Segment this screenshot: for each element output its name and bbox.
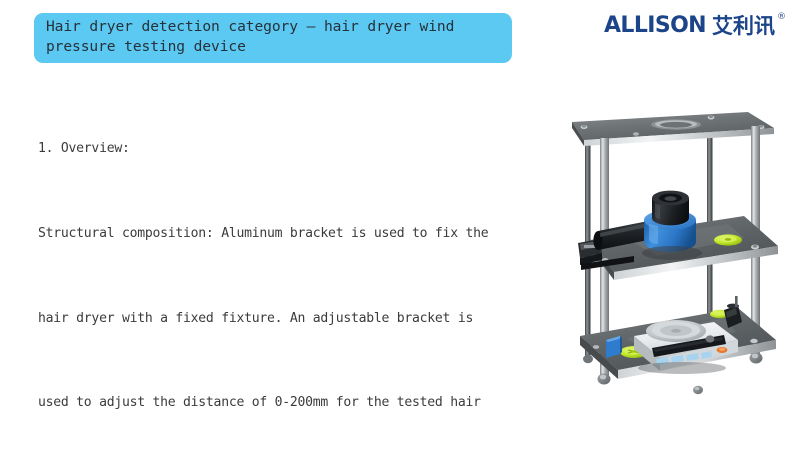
logo-cjk-text: 艾利讯 <box>712 14 775 38</box>
page-title: Hair dryer detection category – hair dry… <box>34 13 512 63</box>
green-adjustment-knob[interactable] <box>714 234 742 245</box>
slide-page: Hair dryer detection category – hair dry… <box>0 0 800 450</box>
body-line: Structural composition: Aluminum bracket… <box>38 220 538 248</box>
black-nozzle-fixture <box>652 191 689 226</box>
product-photo <box>548 100 798 395</box>
testing-device-illustration <box>548 100 798 395</box>
registered-trademark-icon: ® <box>777 13 786 22</box>
body-text: 1. Overview: Structural composition: Alu… <box>38 79 538 450</box>
body-line: used to adjust the distance of 0-200mm f… <box>38 389 538 417</box>
brand-logo: ALLISON 艾利讯 ® <box>604 14 786 38</box>
body-line: hair dryer with a fixed fixture. An adju… <box>38 305 538 333</box>
body-line: 1. Overview: <box>38 135 538 163</box>
logo-latin-text: ALLISON <box>604 14 706 38</box>
